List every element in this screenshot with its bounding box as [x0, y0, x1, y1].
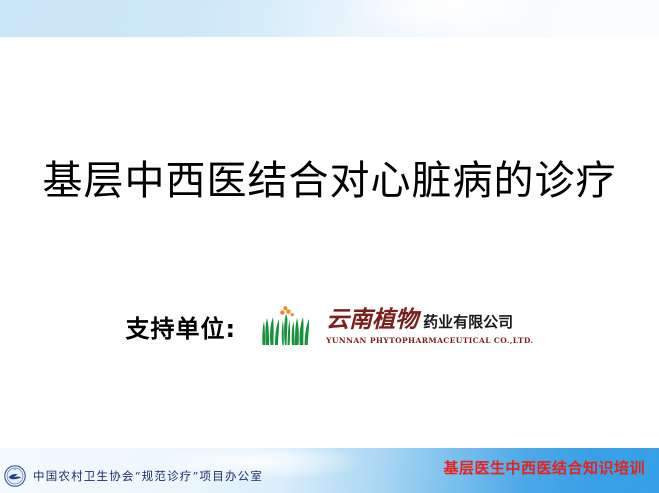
- company-logo-text: 云南植物 药业有限公司 YUNNAN PHYTOPHARMACEUTICAL C…: [326, 304, 533, 348]
- company-brand-cn: 云南植物: [326, 308, 418, 332]
- company-suffix-cn: 药业有限公司: [423, 310, 513, 334]
- presentation-slide: 基层中西医结合对心脏病的诊疗 支持单位:: [0, 0, 659, 493]
- training-program-banner: 基层医生中西医结合知识培训: [443, 457, 645, 478]
- association-seal-emblem-icon: [4, 465, 26, 487]
- green-grass-leaves-logo-icon: [262, 306, 320, 346]
- organization-name: 中国农村卫生协会“规范诊疗”项目办公室: [33, 468, 263, 484]
- company-logo: 云南植物 药业有限公司 YUNNAN PHYTOPHARMACEUTICAL C…: [262, 303, 533, 349]
- support-unit-row: 支持单位:: [0, 298, 659, 354]
- support-unit-label: 支持单位:: [126, 309, 237, 344]
- top-band-highlight: [330, 0, 530, 37]
- slide-title: 基层中西医结合对心脏病的诊疗: [0, 155, 659, 207]
- company-name-en: YUNNAN PHYTOPHARMACEUTICAL CO.,LTD.: [326, 336, 533, 345]
- company-name-cn-row: 云南植物 药业有限公司: [326, 308, 533, 334]
- footer-band: 中国农村卫生协会“规范诊疗”项目办公室 基层医生中西医结合知识培训: [0, 448, 659, 493]
- organization-block: 中国农村卫生协会“规范诊疗”项目办公室: [4, 464, 263, 488]
- top-decorative-band: [0, 0, 659, 37]
